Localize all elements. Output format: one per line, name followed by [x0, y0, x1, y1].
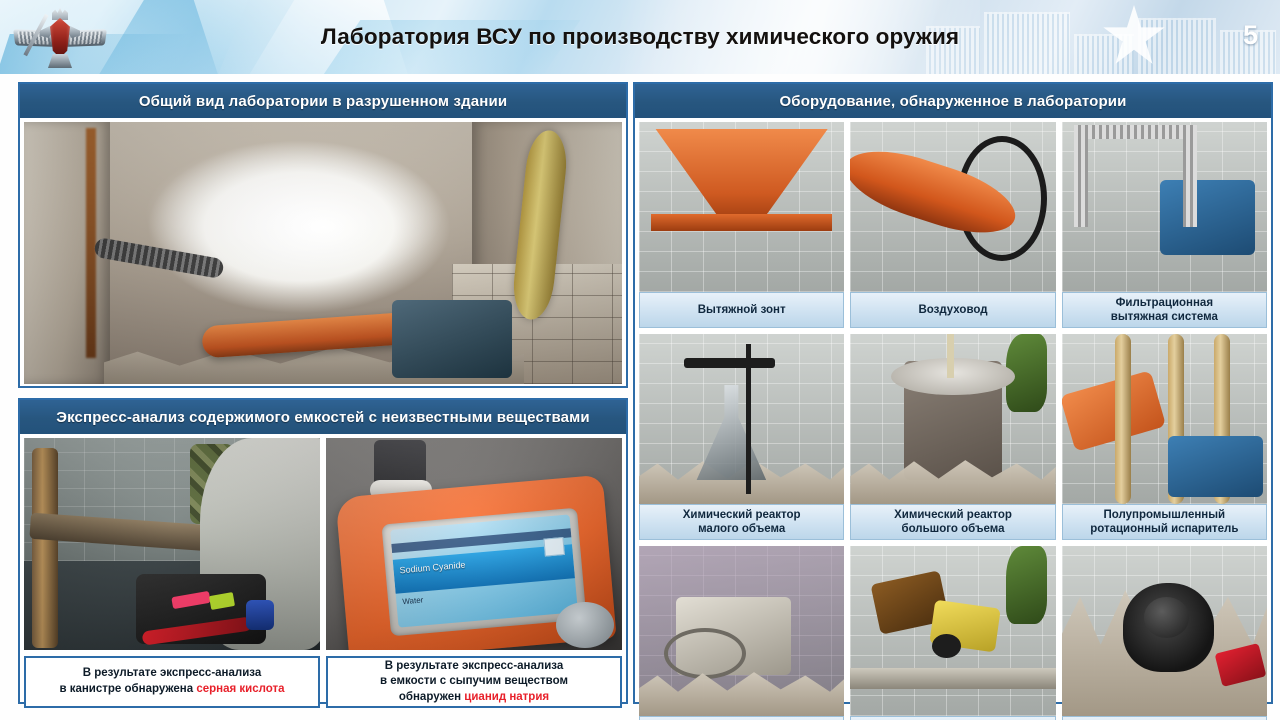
equipment-caption: Воздуховод [850, 292, 1055, 328]
m50-gas-mask-photo [1062, 546, 1267, 716]
equipment-cell: Плиткадля подогрева реактора [639, 546, 844, 720]
slide-number: 5 [1243, 20, 1258, 51]
portable-analyzer-photo: Sodium Cyanide Water [326, 438, 622, 650]
express-caption-sulfuric-acid: В результате экспресс-анализа в канистре… [24, 656, 320, 708]
equipment-cell: Набор реактивов [850, 546, 1055, 720]
large-chemical-reactor-photo [850, 334, 1055, 504]
caption-highlight-substance: серная кислота [196, 683, 284, 695]
slide-header: Лаборатория ВСУ по производству химическ… [0, 0, 1280, 74]
equipment-caption: Плиткадля подогрева реактора [639, 716, 844, 720]
analyzer-screen-result: Sodium Cyanide [399, 560, 466, 576]
caption-line-1: В результате экспресс-анализа [385, 660, 563, 672]
reagent-set-photo [850, 546, 1055, 716]
caption-line-1: Химический реактор [894, 509, 1012, 521]
equipment-caption: Химический реакторбольшого объема [850, 504, 1055, 540]
equipment-cell: Противогаз М50,производство США [1062, 546, 1267, 720]
equipment-cell: Вытяжной зонт [639, 122, 844, 328]
caption-line-2: в канистре обнаружена [59, 683, 196, 695]
equipment-caption: Полупромышленныйротационный испаритель [1062, 504, 1267, 540]
reactor-heating-plate-photo [639, 546, 844, 716]
express-caption-sodium-cyanide: В результате экспресс-анализа в емкости … [326, 656, 622, 708]
caption-line-1: В результате экспресс-анализа [83, 667, 261, 679]
caption-line-2: вытяжная система [1111, 311, 1218, 323]
equipment-cell: Химический реакторбольшого объема [850, 334, 1055, 540]
panel-overview-body [20, 118, 626, 388]
panel-express-analysis: Экспресс-анализ содержимого емкостей с н… [18, 398, 628, 704]
equipment-cell: Полупромышленныйротационный испаритель [1062, 334, 1267, 540]
panel-equipment-heading: Оборудование, обнаруженное в лаборатории [635, 84, 1271, 118]
caption-line-2: в емкости с сыпучим веществом [380, 675, 568, 687]
semi-industrial-rotary-evaporator-photo [1062, 334, 1267, 504]
canister-sampling-photo [24, 438, 320, 650]
page-title: Лаборатория ВСУ по производству химическ… [0, 0, 1280, 74]
panel-express-body: Sodium Cyanide Water В результате экспре… [20, 434, 626, 712]
equipment-caption: Химический реактормалого объема [639, 504, 844, 540]
express-photo-row: Sodium Cyanide Water [24, 438, 622, 650]
analyzer-screen-secondary: Water [402, 595, 424, 606]
small-chemical-reactor-photo [639, 334, 844, 504]
caption-line-1: Воздуховод [918, 304, 987, 316]
equipment-grid: Вытяжной зонт Воздуховод [639, 122, 1267, 720]
lab-overview-photo [24, 122, 622, 384]
panel-equipment: Оборудование, обнаруженное в лаборатории… [633, 82, 1273, 704]
equipment-cell: Воздуховод [850, 122, 1055, 328]
equipment-cell: Химический реактормалого объема [639, 334, 844, 540]
express-caption-row: В результате экспресс-анализа в канистре… [24, 656, 622, 708]
panel-express-heading: Экспресс-анализ содержимого емкостей с н… [20, 400, 626, 434]
caption-line-1: Фильтрационная [1116, 297, 1213, 309]
slide-root: Лаборатория ВСУ по производству химическ… [0, 0, 1280, 720]
equipment-caption: Противогаз М50,производство США [1062, 716, 1267, 720]
caption-highlight-substance: цианид натрия [464, 691, 549, 703]
equipment-cell: Фильтрационнаявытяжная система [1062, 122, 1267, 328]
fume-hood-photo [639, 122, 844, 292]
caption-line-2: ротационный испаритель [1090, 523, 1238, 535]
panel-overview: Общий вид лаборатории в разрушенном здан… [18, 82, 628, 388]
equipment-caption: Вытяжной зонт [639, 292, 844, 328]
caption-line-1: Вытяжной зонт [698, 304, 786, 316]
equipment-caption: Набор реактивов [850, 716, 1055, 720]
caption-line-3: обнаружен [399, 691, 464, 703]
caption-line-1: Полупромышленный [1103, 509, 1225, 521]
panel-overview-heading: Общий вид лаборатории в разрушенном здан… [20, 84, 626, 118]
filtration-exhaust-system-photo [1062, 122, 1267, 292]
caption-line-1: Химический реактор [683, 509, 801, 521]
air-duct-photo [850, 122, 1055, 292]
caption-line-2: малого объема [698, 523, 785, 535]
panel-equipment-body: Вытяжной зонт Воздуховод [635, 118, 1271, 720]
equipment-caption: Фильтрационнаявытяжная система [1062, 292, 1267, 328]
caption-line-2: большого объема [901, 523, 1004, 535]
